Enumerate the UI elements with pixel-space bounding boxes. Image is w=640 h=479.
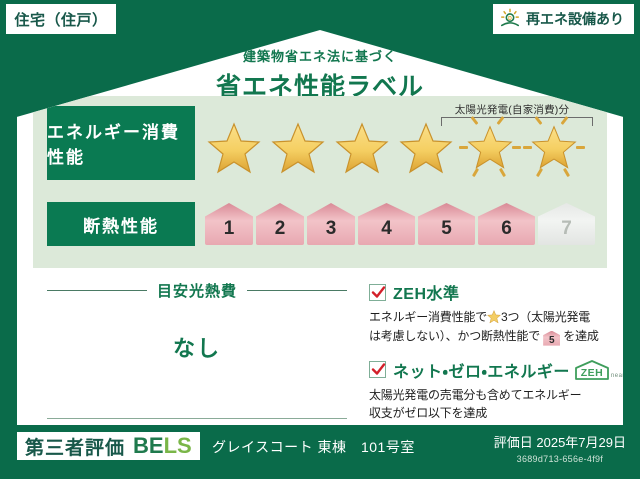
star-3 bbox=[331, 116, 393, 178]
footer: 第三者評価 BELS グレイスコート 東棟 101号室 評価日 2025年7月2… bbox=[0, 428, 640, 479]
bels-third-party-tag: 第三者評価 BELS bbox=[17, 432, 200, 460]
rule-left bbox=[47, 290, 147, 291]
energy-performance-row: エネルギー消費性能 太陽光発電(自家消費)分 bbox=[33, 104, 607, 182]
evaluation-date: 評価日 2025年7月29日 bbox=[494, 432, 626, 451]
energy-star-rating: 太陽光発電(自家消費)分 bbox=[195, 104, 607, 182]
zeh-logo-sub: nearly bbox=[611, 373, 630, 379]
star-4 bbox=[395, 116, 457, 178]
bels-jp-label: 第三者評価 bbox=[25, 433, 125, 460]
grade-chip-1: 1 bbox=[205, 203, 253, 245]
evaluation-info: 評価日 2025年7月29日 3689d713-656e-4f9f bbox=[494, 432, 626, 464]
svg-text:D: D bbox=[508, 16, 512, 22]
renewable-badge-label: 再エネ設備あり bbox=[526, 9, 624, 29]
claim-net-zero-body-part1: 太陽光発電の売電分も含めてエネルギー bbox=[369, 388, 581, 402]
claim-net-zero-head: ネット・ゼロ・エネルギー ZEH nearly bbox=[369, 358, 631, 382]
svg-text:ZEH: ZEH bbox=[581, 367, 604, 379]
star-2 bbox=[267, 116, 329, 178]
renewable-energy-badge: D 再エネ設備あり bbox=[493, 4, 634, 34]
insulation-performance-label: 断熱性能 bbox=[47, 202, 195, 246]
claims-section: ZEH水準 エネルギー消費性能で3つ（太陽光発電 は考慮しない）、かつ断熱性能で… bbox=[369, 280, 631, 435]
grade-chip-2: 2 bbox=[256, 203, 304, 245]
claim-zeh-body-part3: は考慮しない）、かつ断熱性能で bbox=[369, 329, 540, 343]
claim-net-zero-title-text: ネット・ゼロ・エネルギー bbox=[393, 358, 570, 382]
claim-net-zero-body: 太陽光発電の売電分も含めてエネルギー 収支がゼロ以下を達成 bbox=[369, 386, 631, 423]
sun-icon: D bbox=[499, 8, 521, 30]
performance-panel: エネルギー消費性能 太陽光発電(自家消費)分 bbox=[33, 96, 607, 268]
checkbox-checked-icon bbox=[369, 284, 386, 301]
claim-net-zero-body-part2: 収支がゼロ以下を達成 bbox=[369, 406, 487, 420]
star-6-solar bbox=[523, 116, 585, 178]
energy-performance-label: エネルギー消費性能 bbox=[47, 106, 195, 180]
solar-caption: 太陽光発電(自家消費)分 bbox=[427, 102, 597, 117]
star-1 bbox=[203, 116, 265, 178]
star-icon-inline bbox=[487, 310, 501, 324]
claim-zeh-body-part2: 3つ（太陽光発電 bbox=[501, 310, 590, 324]
utility-cost-heading: 目安光熱費 bbox=[47, 280, 347, 301]
star-strip bbox=[203, 116, 585, 178]
inline-grade-chip: 5 bbox=[543, 331, 560, 346]
claim-zeh-level-title: ZEH水準 bbox=[393, 280, 460, 304]
insulation-performance-row: 断熱性能 1 2 3 4 5 6 7 bbox=[33, 188, 607, 260]
category-tag: 住宅（住戸） bbox=[6, 4, 116, 34]
label-card: 建築物省エネ法に基づく 省エネ性能ラベル エネルギー消費性能 太陽光発電(自家消… bbox=[17, 30, 623, 425]
claim-zeh-level: ZEH水準 エネルギー消費性能で3つ（太陽光発電 は考慮しない）、かつ断熱性能で… bbox=[369, 280, 631, 346]
claim-net-zero-title: ネット・ゼロ・エネルギー ZEH nearly bbox=[393, 358, 630, 382]
claim-zeh-body-part1: エネルギー消費性能で bbox=[369, 310, 487, 324]
energy-label-line1: エネルギー消費性能 bbox=[47, 118, 195, 168]
grade-chip-5: 5 bbox=[418, 203, 475, 245]
grade-chip-6: 6 bbox=[478, 203, 535, 245]
rule-right bbox=[247, 290, 347, 291]
star-5-solar bbox=[459, 116, 521, 178]
evaluation-id: 3689d713-656e-4f9f bbox=[494, 454, 626, 464]
page-title: 建築物省エネ法に基づく 省エネ性能ラベル bbox=[17, 46, 623, 103]
title-subtitle: 建築物省エネ法に基づく bbox=[17, 46, 623, 65]
utility-cost-value: なし bbox=[47, 331, 347, 363]
grade-chip-7: 7 bbox=[538, 203, 595, 245]
bels-energy-label: 住宅（住戸） D 再エネ設備あり 建築物省エネ法に基づく 省エネ性能ラベル bbox=[0, 0, 640, 479]
claim-zeh-body-part4: を達成 bbox=[563, 329, 598, 343]
grade-chip-3: 3 bbox=[307, 203, 355, 245]
zeh-logo-icon: ZEH nearly bbox=[574, 359, 630, 381]
utility-cost-heading-text: 目安光熱費 bbox=[157, 280, 237, 301]
claim-zeh-level-body: エネルギー消費性能で3つ（太陽光発電 は考慮しない）、かつ断熱性能で 5 を達成 bbox=[369, 308, 631, 346]
utility-cost-section: 目安光熱費 なし bbox=[47, 280, 347, 363]
claim-net-zero-energy: ネット・ゼロ・エネルギー ZEH nearly 太陽光発電の売電分も含めてエネル… bbox=[369, 358, 631, 423]
bels-logo-part1: BE bbox=[133, 433, 164, 458]
claim-zeh-level-head: ZEH水準 bbox=[369, 280, 631, 304]
building-name: グレイスコート 東棟 101号室 bbox=[212, 437, 415, 457]
checkbox-checked-icon bbox=[369, 361, 386, 378]
bels-logo-part2: LS bbox=[164, 433, 192, 458]
insulation-grade-scale: 1 2 3 4 5 6 7 bbox=[195, 203, 607, 245]
grade-chip-4: 4 bbox=[358, 203, 415, 245]
bels-logo: BELS bbox=[133, 433, 192, 459]
utility-cost-bottom-rule bbox=[47, 418, 347, 419]
